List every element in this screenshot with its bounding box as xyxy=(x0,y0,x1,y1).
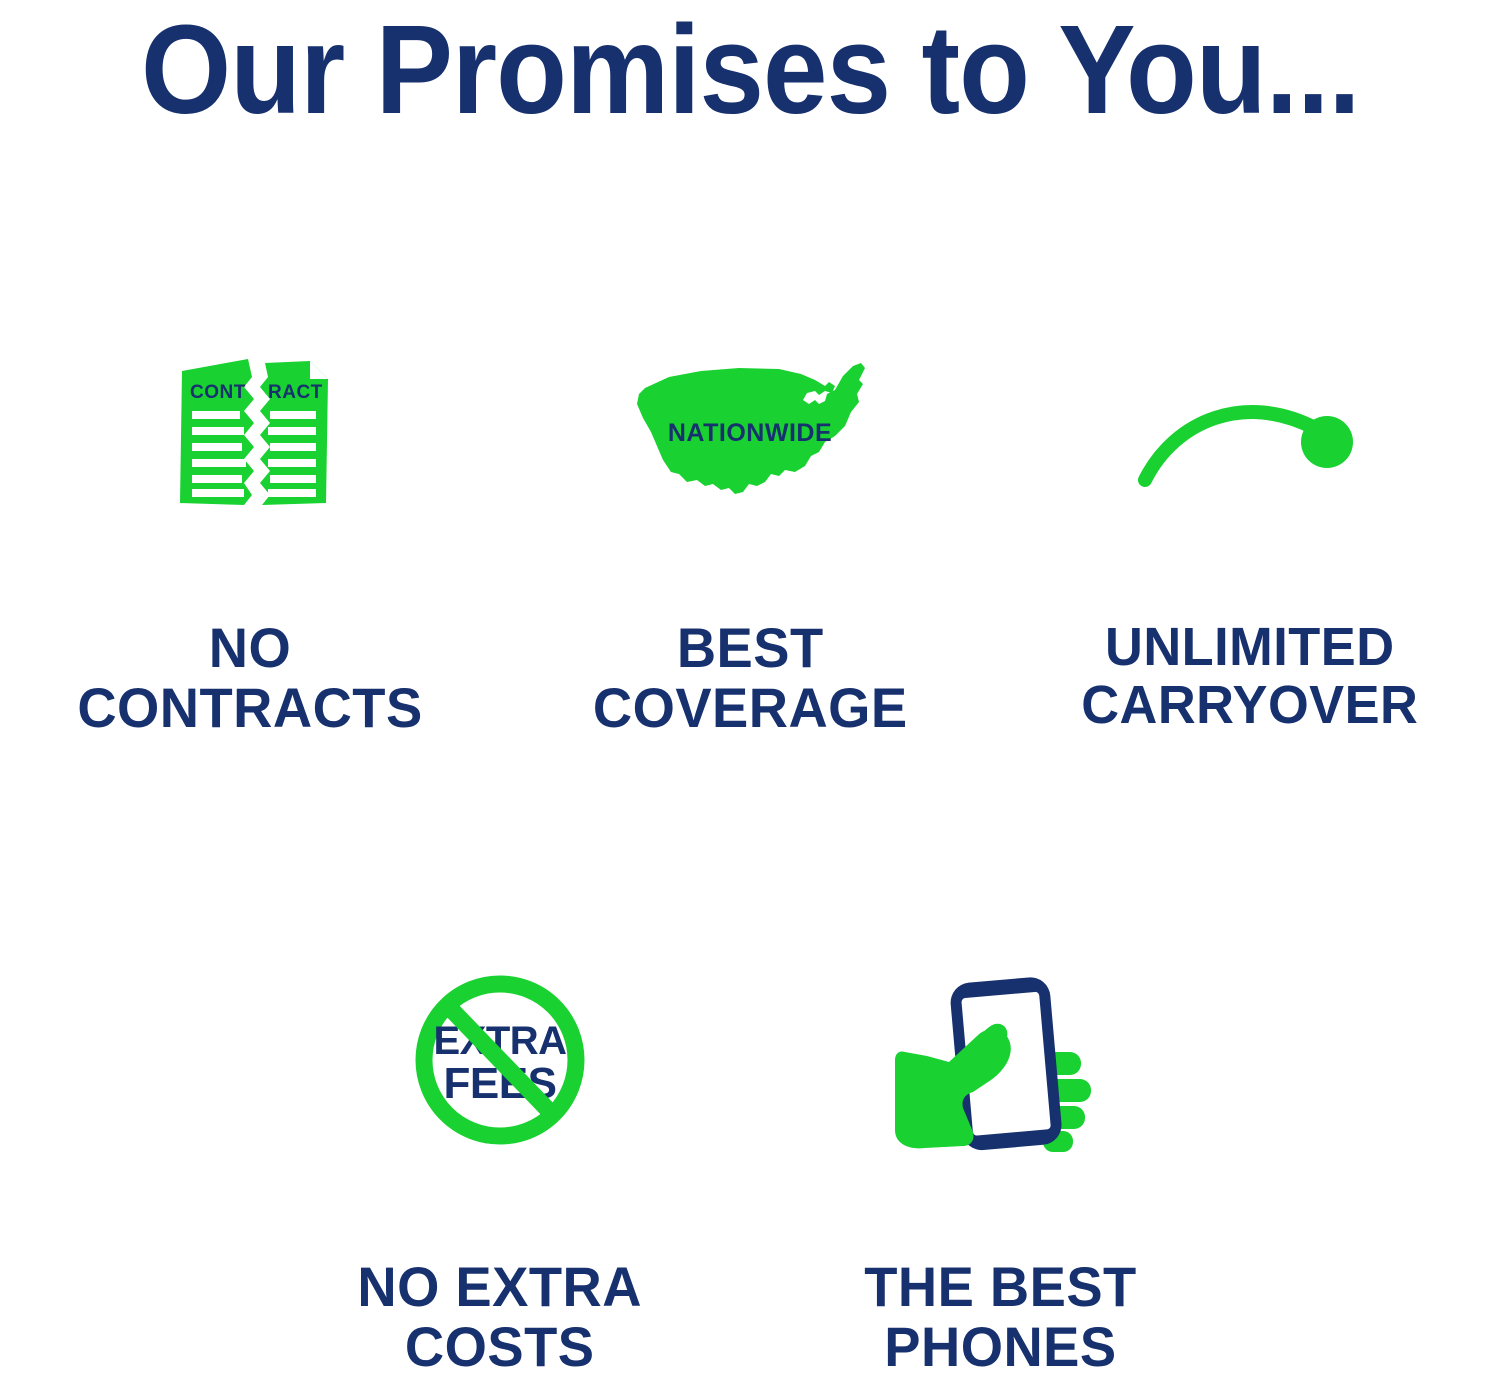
promises-row-top: CONT RACT NO CONTRACTS NATIONWIDE BEST C… xyxy=(0,330,1500,739)
no-extra-fees-icon-box: EXTRA FEES xyxy=(360,955,640,1165)
promises-page: Our Promises to You... xyxy=(0,0,1500,1367)
promise-no-contracts[interactable]: CONT RACT NO CONTRACTS xyxy=(0,330,500,739)
nationwide-text: NATIONWIDE xyxy=(668,419,832,447)
carryover-arc-icon-box xyxy=(1110,330,1390,540)
promise-unlimited-carryover[interactable]: UNLIMITED CARRYOVER xyxy=(1000,330,1500,739)
usa-map-icon-box: NATIONWIDE xyxy=(610,330,890,540)
hand-holding-phone-icon xyxy=(893,968,1108,1153)
row-spacer-left xyxy=(0,955,250,1378)
page-title: Our Promises to You... xyxy=(141,7,1360,133)
hand-holding-phone-icon-box xyxy=(860,955,1140,1165)
promise-the-best-phones[interactable]: THE BEST PHONES xyxy=(750,955,1250,1378)
usa-map-icon: NATIONWIDE xyxy=(629,360,871,510)
promise-label-no-contracts: NO CONTRACTS xyxy=(77,618,422,739)
promise-label-the-best-phones: THE BEST PHONES xyxy=(864,1257,1136,1378)
no-extra-fees-icon: EXTRA FEES xyxy=(410,970,590,1150)
contract-text-left: CONT xyxy=(190,382,246,403)
row-spacer-right xyxy=(1250,955,1500,1378)
promise-no-extra-costs[interactable]: EXTRA FEES NO EXTRA COSTS xyxy=(250,955,750,1378)
torn-contract-icon-box: CONT RACT xyxy=(110,330,390,540)
promise-label-unlimited-carryover: UNLIMITED CARRYOVER xyxy=(1081,618,1418,735)
contract-text-right: RACT xyxy=(268,382,323,403)
page-header: Our Promises to You... xyxy=(0,0,1500,140)
promises-row-bottom: EXTRA FEES NO EXTRA COSTS xyxy=(0,955,1500,1378)
promise-label-no-extra-costs: NO EXTRA COSTS xyxy=(358,1257,643,1378)
promise-best-coverage[interactable]: NATIONWIDE BEST COVERAGE xyxy=(500,330,1000,739)
carryover-arc-icon xyxy=(1135,380,1365,490)
torn-contract-icon: CONT RACT xyxy=(170,353,330,518)
promise-label-best-coverage: BEST COVERAGE xyxy=(593,618,908,739)
